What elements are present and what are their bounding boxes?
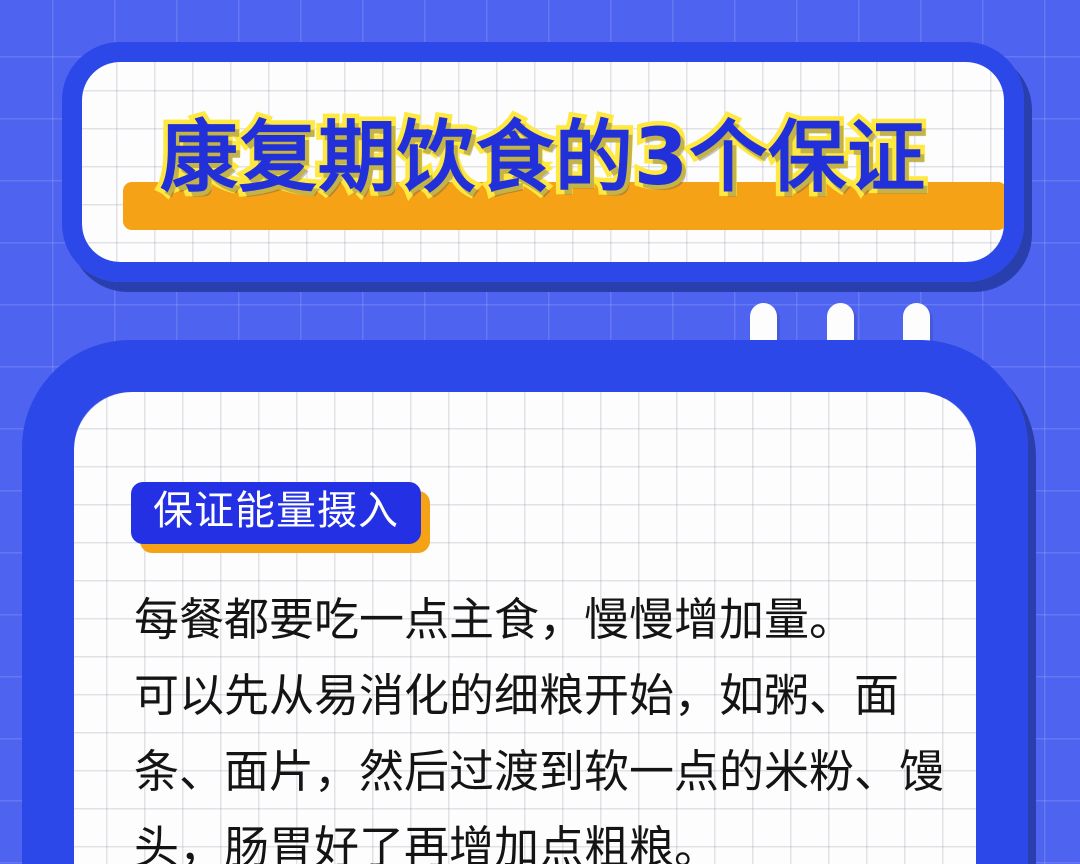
paragraph-line: 每餐都要吃一点主食，慢慢增加量。 xyxy=(134,582,976,658)
section-paragraph: 每餐都要吃一点主食，慢慢增加量。 可以先从易消化的细粮开始，如粥、面 条、面片，… xyxy=(134,582,976,864)
page-title: 康复期饮食的3个保证 xyxy=(160,119,926,197)
section-badge: 保证能量摄入 xyxy=(131,482,421,544)
poster-canvas: 康复期饮食的3个保证 保证能量摄入 每餐都要吃一点主食，慢慢增加量。 可以先从易… xyxy=(0,0,1080,864)
paragraph-line: 头，肠胃好了再增加点粗粮。 xyxy=(134,810,976,864)
paragraph-line: 条、面片，然后过渡到软一点的米粉、馒 xyxy=(134,734,976,810)
content-card-paper: 保证能量摄入 每餐都要吃一点主食，慢慢增加量。 可以先从易消化的细粮开始，如粥、… xyxy=(74,392,976,864)
content-card: 保证能量摄入 每餐都要吃一点主食，慢慢增加量。 可以先从易消化的细粮开始，如粥、… xyxy=(22,340,1028,864)
paragraph-line: 可以先从易消化的细粮开始，如粥、面 xyxy=(134,658,976,734)
header-card-paper: 康复期饮食的3个保证 xyxy=(82,62,1004,262)
section-badge-label: 保证能量摄入 xyxy=(153,488,399,534)
title-container: 康复期饮食的3个保证 xyxy=(82,62,1004,262)
header-card: 康复期饮食的3个保证 xyxy=(62,42,1024,282)
